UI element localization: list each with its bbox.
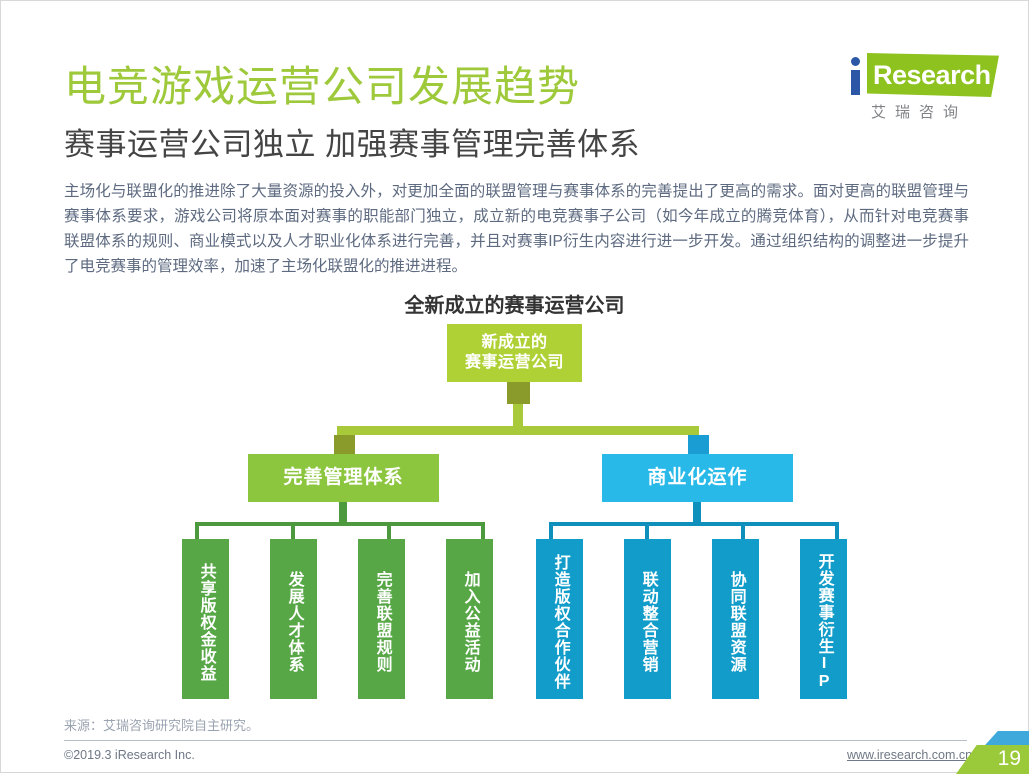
page-corner-graphic: 19 — [956, 731, 1029, 774]
root-line-1: 新成立的 — [465, 333, 564, 353]
connector-top-bar — [337, 426, 699, 435]
branch-node-commercial: 商业化运作 — [602, 454, 793, 502]
connector-root-tab — [507, 382, 530, 404]
diagram-root-node: 新成立的 赛事运营公司 — [447, 324, 582, 382]
connector-blue-drop-3 — [741, 522, 745, 540]
connector-blue-drop-4 — [835, 522, 839, 540]
leaf-node-green-2: 发展人才体系 — [270, 539, 317, 699]
connector-blue-stem — [693, 502, 701, 524]
leaf-node-green-3: 完善联盟规则 — [358, 539, 405, 699]
page-number: 19 — [998, 747, 1021, 771]
branch-node-management: 完善管理体系 — [248, 454, 439, 502]
copyright-text: ©2019.3 iResearch Inc. — [64, 748, 195, 762]
connector-blue-drop-2 — [645, 522, 649, 540]
connector-blue-drop-1 — [549, 522, 553, 540]
leaf-node-blue-3: 协同联盟资源 — [712, 539, 759, 699]
leaf-node-blue-1: 打造版权合作伙伴 — [536, 539, 583, 699]
source-note: 来源：艾瑞咨询研究院自主研究。 — [64, 715, 259, 734]
connector-green-drop-3 — [387, 522, 391, 540]
slide-page: 电竞游戏运营公司发展趋势 赛事运营公司独立 加强赛事管理完善体系 Researc… — [0, 0, 1029, 773]
footer-divider — [64, 740, 967, 741]
leaf-node-blue-4: 开发赛事衍生IP — [800, 539, 847, 699]
connector-root-stem — [513, 404, 523, 426]
connector-green-bar — [195, 522, 485, 526]
connector-tab-green — [334, 435, 355, 455]
connector-green-drop-1 — [195, 522, 199, 540]
leaf-node-green-1: 共享版权金收益 — [182, 539, 229, 699]
org-diagram: 新成立的 赛事运营公司 完善管理体系 商业化运作 共享版权金收益 发展人才体系 … — [1, 1, 1029, 774]
leaf-node-blue-2: 联动整合营销 — [624, 539, 671, 699]
leaf-node-green-4: 加入公益活动 — [446, 539, 493, 699]
connector-green-drop-2 — [291, 522, 295, 540]
connector-green-stem — [339, 502, 347, 524]
connector-green-drop-4 — [481, 522, 485, 540]
website-link[interactable]: www.iresearch.com.cn — [847, 748, 972, 762]
connector-blue-bar — [549, 522, 839, 526]
root-line-2: 赛事运营公司 — [465, 353, 564, 373]
connector-tab-blue — [688, 435, 709, 455]
